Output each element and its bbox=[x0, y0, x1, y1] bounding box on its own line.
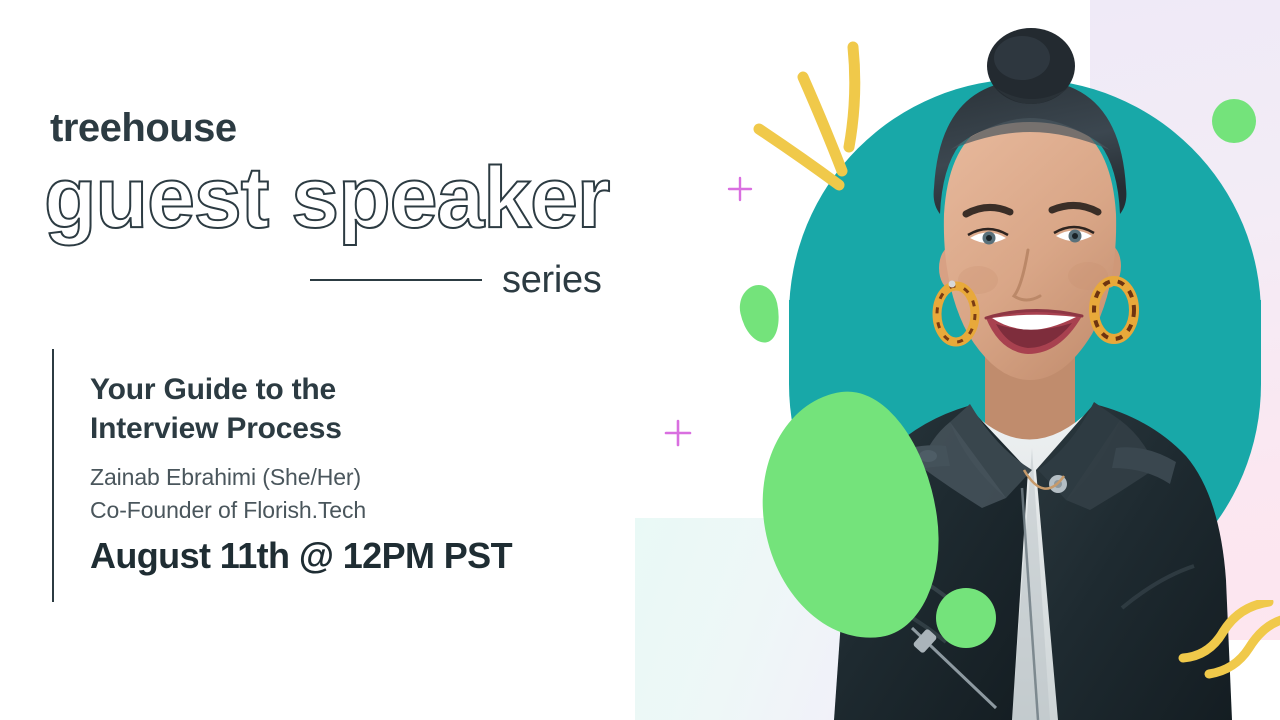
green-circle-bottom bbox=[936, 588, 996, 648]
series-divider-rule bbox=[310, 279, 482, 281]
promo-slide: treehouse guest speaker series Your Guid… bbox=[0, 0, 1280, 720]
talk-title-line-1: Your Guide to the bbox=[90, 370, 342, 409]
green-blob-small bbox=[735, 282, 784, 347]
speaker-details: Zainab Ebrahimi (She/Her) Co-Founder of … bbox=[90, 461, 366, 526]
vertical-accent-bar bbox=[52, 349, 54, 602]
speaker-role: Co-Founder of Florish.Tech bbox=[90, 494, 366, 527]
text-column: treehouse guest speaker series Your Guid… bbox=[0, 0, 660, 720]
sparkle-rays-icon bbox=[745, 35, 905, 220]
brand-wordmark: treehouse bbox=[50, 106, 237, 151]
plus-mark-icon bbox=[664, 419, 692, 447]
speaker-name: Zainab Ebrahimi (She/Her) bbox=[90, 461, 366, 494]
plus-mark-icon bbox=[727, 176, 753, 202]
series-row: series bbox=[310, 256, 625, 304]
talk-title-line-2: Interview Process bbox=[90, 409, 342, 448]
event-datetime: August 11th @ 12PM PST bbox=[90, 536, 512, 576]
talk-title: Your Guide to the Interview Process bbox=[90, 370, 342, 448]
headline-outline-text: guest speaker bbox=[44, 155, 609, 241]
wavy-lines-icon bbox=[1165, 600, 1280, 705]
series-label: series bbox=[502, 261, 602, 299]
